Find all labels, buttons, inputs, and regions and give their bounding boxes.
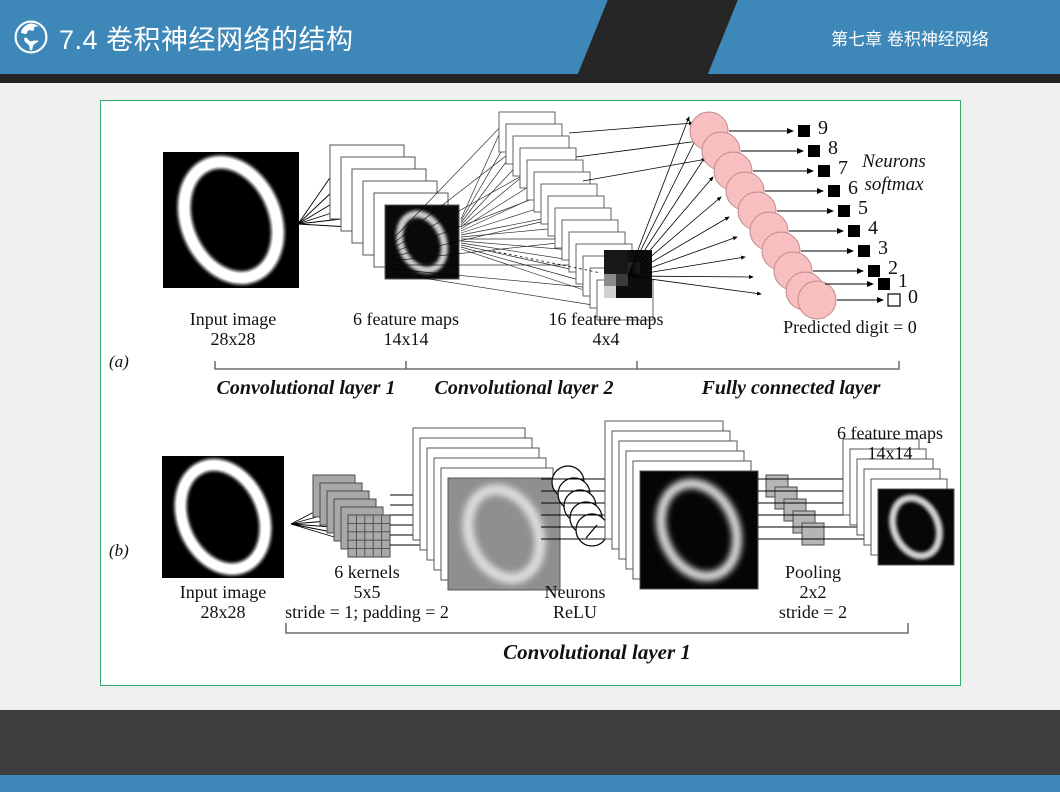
footer-dark-band [0,710,1060,775]
chapter-label-group: 第七章 卷积神经网络 [760,0,1060,74]
panel-a-brackets [215,361,899,369]
panel-b-fmap-label-1: 6 feature maps [819,423,961,444]
panel-b-kernel-label-2: 5x5 [287,582,447,603]
footer-blue-band [0,775,1060,792]
panel-a-prediction-label: Predicted digit = 0 [741,317,959,338]
panel-b-bracket-label: Convolutional layer 1 [417,640,777,665]
panel-b-kernels [313,475,390,557]
panel-a-feature-maps-2 [493,112,653,320]
panel-a-output-digit-1: 1 [898,270,908,293]
panel-b-pooling-label-1: Pooling [749,562,877,583]
panel-b-neurons-label-1: Neurons [516,582,634,603]
globe-icon [14,20,48,54]
panel-a-fmap1-label-1: 6 feature maps [313,309,499,330]
panel-a-output-digit-4: 4 [868,217,878,240]
panel-a-fmap1-label-2: 14x14 [313,329,499,350]
panel-a-fmap2-label-2: 4x4 [511,329,701,350]
panel-a-caption: (a) [109,352,129,372]
panel-a-softmax-neurons [690,112,836,319]
header-underbar [0,74,1060,83]
panel-b-kernel-label-1: 6 kernels [287,562,447,583]
panel-a-bracket-label-2: Convolutional layer 2 [429,377,619,400]
panel-a-feature-maps-1 [330,145,459,279]
panel-a-bracket-label-3: Fully connected layer [681,377,901,400]
panel-b-activation-maps [605,421,758,589]
panel-a-input-label-2: 28x28 [153,329,313,350]
panel-a-output-digit-5: 5 [858,197,868,220]
panel-a-fmap2-label-1: 16 feature maps [511,309,701,330]
panel-a-bracket-label-1: Convolutional layer 1 [211,377,401,400]
page-title: 7.4 卷积神经网络的结构 [59,18,354,57]
panel-b-pooling-label-2: 2x2 [749,582,877,603]
panel-b-input-image [162,452,284,583]
panel-b-fmap-label-2: 14x14 [819,443,961,464]
panel-b-neurons-label-2: ReLU [516,602,634,623]
cnn-architecture-figure: (a) Input image 28x28 6 feature maps 14x… [101,101,960,685]
panel-b-input-label-1: Input image [143,582,303,603]
header-title-group: 7.4 卷积神经网络的结构 [14,0,354,74]
panel-a-output-digit-7: 7 [838,157,848,180]
figure-card: (a) Input image 28x28 6 feature maps 14x… [100,100,961,686]
panel-b-kernel-label-3: stride = 1; padding = 2 [267,602,467,623]
panel-a-input-label-1: Input image [153,309,313,330]
panel-a-output-digit-6: 6 [848,177,858,200]
slide-header: 7.4 卷积神经网络的结构 第七章 卷积神经网络 [0,0,1060,74]
panel-a-output-digit-9: 9 [818,117,828,140]
panel-b-pooling-label-3: stride = 2 [749,602,877,623]
panel-a-fmap2-front [604,250,652,298]
panel-b-caption: (b) [109,541,129,561]
header-diagonal-accent [575,0,740,74]
panel-b-pooling-blocks [766,475,824,545]
chapter-label: 第七章 卷积神经网络 [831,25,989,50]
panel-a-output-digit-0: 0 [908,286,918,309]
panel-a-input-image [163,148,299,293]
panel-a-output-digit-8: 8 [828,137,838,160]
panel-b-bracket [286,623,908,633]
panel-a-output-digit-3: 3 [878,237,888,260]
panel-a-output-digit-2: 2 [888,257,898,280]
panel-a-neurons-label-1: Neurons [829,151,959,173]
